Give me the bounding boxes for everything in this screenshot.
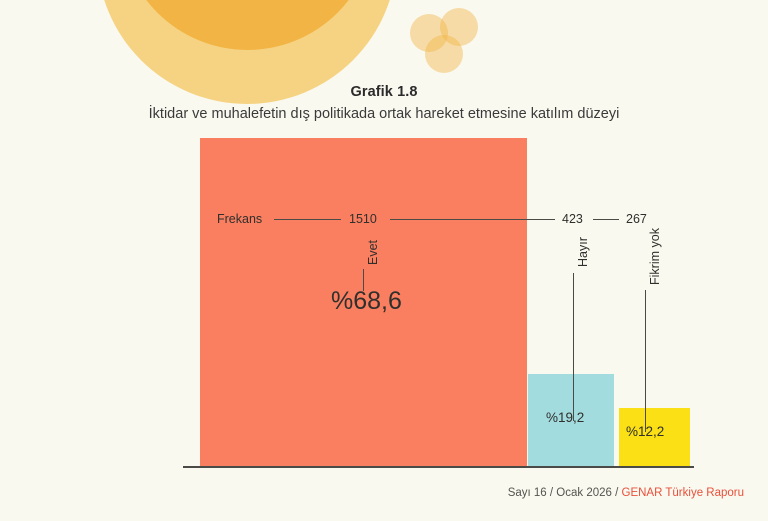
value-label-hayir: %19,2 xyxy=(546,410,584,425)
decorative-circle-cluster-icon xyxy=(410,8,480,74)
frequency-value-evet: 1510 xyxy=(349,210,377,228)
value-label-fikrim: %12,2 xyxy=(626,424,664,439)
decorative-arc-middle xyxy=(120,0,375,50)
category-label-fikrim: Fikrim yok xyxy=(648,228,662,285)
chart-title: Grafik 1.8 xyxy=(0,84,768,100)
frequency-connector-2 xyxy=(390,219,555,220)
chart-header: Grafik 1.8 İktidar ve muhalefetin dış po… xyxy=(0,84,768,122)
leader-line-fikrim xyxy=(645,290,646,432)
frequency-connector-3 xyxy=(593,219,619,220)
footer-issue: Sayı 16 / Ocak 2026 / xyxy=(508,487,622,499)
cluster-circle-3 xyxy=(425,35,463,73)
category-label-evet: Evet xyxy=(366,240,380,265)
leader-line-hayir xyxy=(573,273,574,421)
frequency-row-label: Frekans xyxy=(217,210,262,228)
footer-brand: GENAR Türkiye Raporu xyxy=(622,487,745,499)
bar-chart-plot-area xyxy=(183,138,694,468)
frequency-row: Frekans 1510 423 267 xyxy=(183,210,694,228)
frequency-value-fikrim: 267 xyxy=(626,210,647,228)
value-label-evet: %68,6 xyxy=(331,287,402,316)
category-label-hayir: Hayır xyxy=(576,237,590,267)
frequency-connector-1 xyxy=(274,219,341,220)
chart-subtitle: İktidar ve muhalefetin dış politikada or… xyxy=(0,106,768,122)
x-axis-baseline xyxy=(183,466,694,468)
frequency-value-hayir: 423 xyxy=(562,210,583,228)
footer-credit: Sayı 16 / Ocak 2026 / GENAR Türkiye Rapo… xyxy=(508,487,744,499)
